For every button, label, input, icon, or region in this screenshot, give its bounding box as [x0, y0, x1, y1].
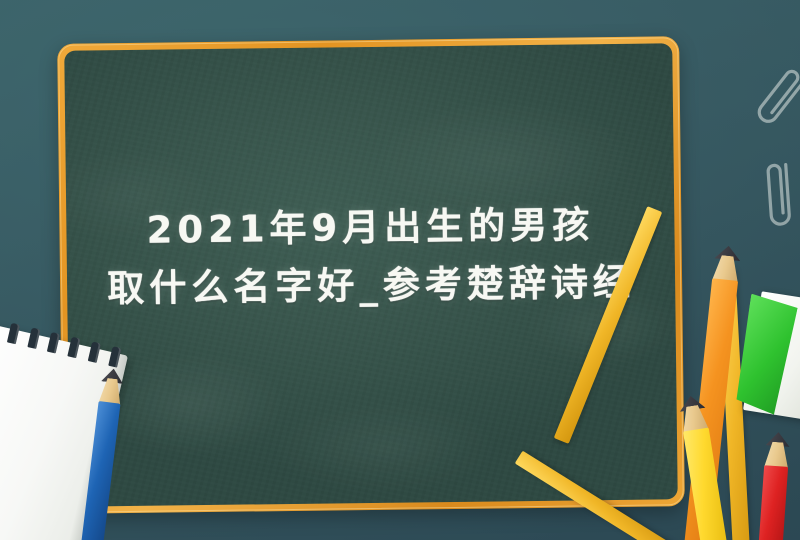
spiral-ring	[68, 337, 81, 359]
chalk-title-line-1: 2021年9月出生的男孩	[80, 195, 661, 261]
chalk-title-line-2: 取什么名字好_参考楚辞诗经	[81, 254, 662, 320]
blackboard: 2021年9月出生的男孩 取什么名字好_参考楚辞诗经	[57, 36, 685, 514]
blackboard-scene: 2021年9月出生的男孩 取什么名字好_参考楚辞诗经	[0, 0, 800, 540]
spiral-ring	[88, 341, 101, 363]
chalk-title-text: 2021年9月出生的男孩 取什么名字好_参考楚辞诗经	[66, 195, 675, 319]
spiral-ring	[47, 332, 60, 354]
blackboard-surface: 2021年9月出生的男孩 取什么名字好_参考楚辞诗经	[64, 43, 678, 506]
spiral-ring	[27, 327, 40, 349]
paper-clip-icon-bottom	[759, 154, 800, 241]
spiral-ring	[7, 323, 20, 345]
green-folder	[743, 291, 800, 420]
